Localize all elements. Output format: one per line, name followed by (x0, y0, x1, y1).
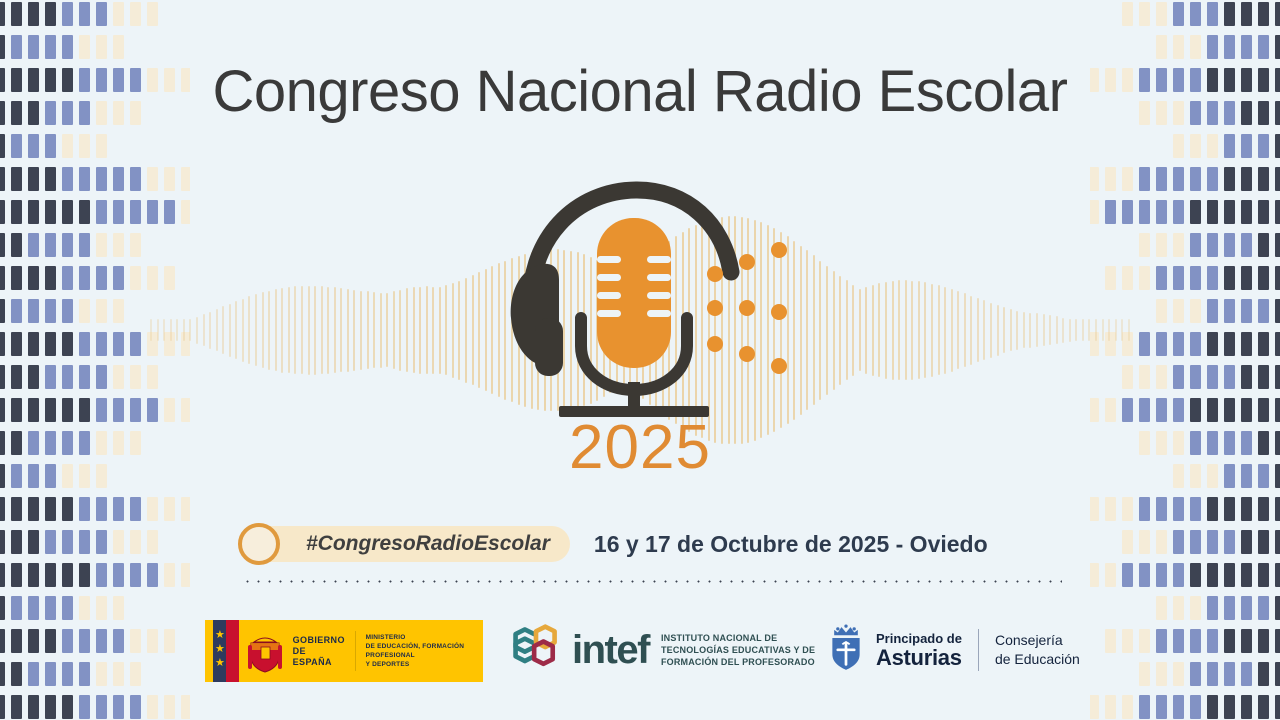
equalizer-bar (1090, 167, 1099, 191)
waveform-line (399, 290, 401, 371)
waveform-line (242, 299, 244, 362)
waveform-line (294, 286, 296, 374)
waveform-line (255, 294, 257, 366)
equalizer-bar (1258, 266, 1269, 290)
waveform-line (826, 266, 828, 395)
waveform-line (1075, 319, 1077, 341)
waveform-line (308, 286, 310, 375)
equalizer-bar (1207, 695, 1218, 719)
equalizer-bar (1156, 35, 1167, 59)
equalizer-bar (0, 233, 5, 257)
waveform-line (1095, 319, 1097, 341)
waveform-line (432, 287, 434, 374)
gobierno-line1: GOBIERNO (293, 635, 345, 646)
equalizer-bar (1258, 35, 1269, 59)
equalizer-bar (45, 299, 56, 323)
waveform-line (885, 282, 887, 379)
equalizer-bar (1207, 134, 1218, 158)
waveform-line (176, 319, 178, 341)
equalizer-bar (28, 266, 39, 290)
equalizer-row (1090, 695, 1280, 719)
equalizer-bar (1275, 497, 1280, 521)
equalizer-bar (62, 134, 73, 158)
waveform-line (203, 314, 205, 346)
equalizer-bar (147, 2, 158, 26)
equalizer-bar (96, 2, 107, 26)
equalizer-bar (1156, 332, 1167, 356)
equalizer-bar (11, 299, 22, 323)
equalizer-bar (1090, 695, 1099, 719)
equalizer-bar (1190, 530, 1201, 554)
equalizer-bar (11, 266, 22, 290)
equalizer-bar (96, 134, 107, 158)
waveform-line (1036, 313, 1038, 347)
spain-flag-icon: ★ ★ ★ (205, 620, 243, 682)
equalizer-bar (1173, 266, 1184, 290)
equalizer-bar (113, 35, 124, 59)
equalizer-bar (1241, 530, 1252, 554)
equalizer-bar (1241, 266, 1252, 290)
equalizer-bar (1224, 167, 1235, 191)
waveform-line (1088, 319, 1090, 341)
equalizer-bar (1224, 233, 1235, 257)
equalizer-bar (1241, 563, 1252, 587)
asturias-line2: Asturias (876, 646, 962, 670)
equalizer-bar (62, 200, 73, 224)
equalizer-bar (0, 35, 5, 59)
equalizer-bar (28, 35, 39, 59)
equalizer-bar (1090, 563, 1099, 587)
waveform-line (951, 289, 953, 372)
logo-strip: ★ ★ ★ GOBIERNO DE ESPAÑA (0, 615, 1280, 695)
equalizer-bar (0, 332, 5, 356)
equalizer-bar (1207, 266, 1218, 290)
waveform-line (445, 285, 447, 375)
equalizer-row (1122, 530, 1280, 554)
equalizer-bar (1207, 332, 1218, 356)
intef-wordmark: intef (572, 628, 649, 673)
equalizer-bar (1258, 365, 1269, 389)
equalizer-bar (96, 365, 107, 389)
intef-line1: INSTITUTO NACIONAL DE (661, 632, 815, 644)
waveform-line (1010, 309, 1012, 351)
equalizer-bar (1258, 695, 1269, 719)
equalizer-bar (0, 266, 5, 290)
equalizer-bar (1190, 497, 1201, 521)
equalizer-bar (1224, 530, 1235, 554)
equalizer-bar (1122, 563, 1133, 587)
equalizer-bar (1275, 167, 1280, 191)
waveform-line (347, 289, 349, 372)
equalizer-bar (1224, 35, 1235, 59)
waveform-line (1082, 319, 1084, 341)
waveform-line (458, 281, 460, 380)
equalizer-bar (1275, 2, 1280, 26)
equalizer-bar (1258, 497, 1269, 521)
waveform-line (150, 319, 152, 341)
waveform-line (1023, 312, 1025, 348)
equalizer-bar (1156, 365, 1167, 389)
equalizer-bar (1207, 530, 1218, 554)
equalizer-row (0, 2, 158, 26)
equalizer-bar (1241, 134, 1252, 158)
equalizer-row (1139, 233, 1280, 257)
waveform-line (924, 282, 926, 378)
equalizer-bar (1275, 530, 1280, 554)
equalizer-bar (11, 35, 22, 59)
waveform-line (406, 288, 408, 372)
equalizer-bar (1190, 563, 1201, 587)
equalizer-bar (1139, 695, 1150, 719)
equalizer-bar (1207, 35, 1218, 59)
waveform-line (1102, 319, 1104, 341)
equalizer-bar (130, 365, 141, 389)
logo-intef: intef INSTITUTO NACIONAL DE TECNOLOGÍAS … (508, 621, 815, 679)
gobierno-line2: DE ESPAÑA (293, 646, 345, 668)
waveform-line (819, 261, 821, 400)
equalizer-row (0, 134, 107, 158)
equalizer-row (0, 35, 124, 59)
equalizer-bar (1224, 695, 1235, 719)
waveform-line (472, 275, 474, 385)
equalizer-bar (1173, 332, 1184, 356)
equalizer-bar (11, 167, 22, 191)
equalizer-bar (1258, 563, 1269, 587)
waveform-line (275, 289, 277, 371)
equalizer-bar (113, 332, 124, 356)
equalizer-bar (45, 167, 56, 191)
equalizer-bar (0, 530, 5, 554)
equalizer-bar (79, 200, 90, 224)
waveform-line (248, 296, 250, 364)
equalizer-bar (79, 497, 90, 521)
waveform-line (892, 281, 894, 380)
equalizer-bar (11, 332, 22, 356)
equalizer-bar (0, 2, 5, 26)
equalizer-bar (0, 134, 5, 158)
equalizer-bar (96, 695, 107, 719)
equalizer-bar (62, 563, 73, 587)
equalizer-bar (1241, 365, 1252, 389)
waveform-line (216, 309, 218, 351)
equalizer-bar (62, 695, 73, 719)
equalizer-bar (1139, 233, 1150, 257)
equalizer-bar (79, 233, 90, 257)
equalizer-bar (130, 2, 141, 26)
equalizer-bar (1224, 332, 1235, 356)
equalizer-bar (62, 2, 73, 26)
equalizer-row (0, 167, 190, 191)
waveform-line (281, 288, 283, 373)
waveform-line (157, 319, 159, 341)
equalizer-bar (28, 497, 39, 521)
equalizer-bar (1190, 167, 1201, 191)
waveform-line (957, 291, 959, 369)
equalizer-bar (113, 299, 124, 323)
waveform-line (872, 285, 874, 376)
logo-principado-asturias: Principado de Asturias Consejería de Edu… (826, 621, 1080, 679)
equalizer-bar (1224, 365, 1235, 389)
waveform-line (1003, 307, 1005, 353)
equalizer-row (0, 266, 175, 290)
equalizer-bar (1207, 167, 1218, 191)
equalizer-bar (1173, 563, 1184, 587)
equalizer-bar (164, 695, 175, 719)
equalizer-bar (1156, 266, 1167, 290)
waveform-line (938, 285, 940, 375)
equalizer-bar (1207, 233, 1218, 257)
equalizer-bar (130, 200, 141, 224)
equalizer-bar (45, 134, 56, 158)
equalizer-bar (1173, 233, 1184, 257)
equalizer-bar (96, 35, 107, 59)
equalizer-bar (79, 266, 90, 290)
equalizer-bar (79, 2, 90, 26)
equalizer-bar (113, 530, 124, 554)
equalizer-bar (113, 563, 124, 587)
equalizer-bar (113, 2, 124, 26)
equalizer-bar (28, 233, 39, 257)
poster-canvas: Congreso Nacional Radio Escolar (0, 0, 1280, 720)
waveform-line (1016, 311, 1018, 350)
waveform-line (865, 287, 867, 374)
equalizer-row (1090, 167, 1280, 191)
equalizer-bar (1241, 167, 1252, 191)
waveform-line (806, 250, 808, 410)
equalizer-bar (96, 266, 107, 290)
equalizer-bar (1275, 332, 1280, 356)
intef-mark-icon (508, 622, 564, 679)
equalizer-bar (0, 695, 5, 719)
asturias-divider (978, 629, 979, 671)
waveform-line (905, 280, 907, 380)
equalizer-bar (1224, 200, 1235, 224)
equalizer-bar (1224, 563, 1235, 587)
equalizer-bar (62, 233, 73, 257)
equalizer-bar (113, 695, 124, 719)
equalizer-bar (1173, 497, 1184, 521)
equalizer-bar (1156, 233, 1167, 257)
equalizer-bar (1241, 233, 1252, 257)
equalizer-bar (45, 563, 56, 587)
dotted-divider (242, 580, 1062, 583)
equalizer-bar (96, 167, 107, 191)
equalizer-bar (147, 695, 158, 719)
equalizer-bar (1190, 299, 1201, 323)
equalizer-bar (1241, 299, 1252, 323)
microphone-icon (497, 168, 797, 428)
equalizer-bar (130, 233, 141, 257)
waveform-line (163, 319, 165, 341)
ministerio-line2: DE EDUCACIÓN, FORMACIÓN PROFESIONAL (366, 642, 483, 660)
equalizer-bar (62, 266, 73, 290)
equalizer-bar (28, 695, 39, 719)
equalizer-bar (1224, 2, 1235, 26)
equalizer-bar (96, 530, 107, 554)
consejeria-line1: Consejería (995, 631, 1080, 650)
equalizer-bar (62, 167, 73, 191)
equalizer-bar (1275, 266, 1280, 290)
equalizer-bar (0, 563, 5, 587)
equalizer-bar (11, 497, 22, 521)
waveform-line (367, 291, 369, 369)
equalizer-bar (45, 2, 56, 26)
equalizer-bar (1190, 200, 1201, 224)
equalizer-row (1156, 299, 1280, 323)
equalizer-bar (1207, 2, 1218, 26)
equalizer-bar (1139, 266, 1150, 290)
equalizer-bar (1258, 233, 1269, 257)
equalizer-bar (130, 695, 141, 719)
waveform-line (1121, 319, 1123, 341)
equalizer-row (1122, 2, 1280, 26)
equalizer-bar (79, 695, 90, 719)
equalizer-bar (130, 497, 141, 521)
equalizer-bar (11, 695, 22, 719)
equalizer-bar (1173, 2, 1184, 26)
waveform-line (393, 291, 395, 369)
equalizer-bar (1207, 200, 1218, 224)
equalizer-bar (96, 563, 107, 587)
consejeria-line2: de Educación (995, 650, 1080, 669)
equalizer-bar (113, 167, 124, 191)
equalizer-bar (164, 497, 175, 521)
equalizer-bar (62, 299, 73, 323)
equalizer-bar (45, 233, 56, 257)
equalizer-row (1105, 266, 1280, 290)
equalizer-bar (1173, 167, 1184, 191)
equalizer-bar (45, 530, 56, 554)
equalizer-bar (1275, 200, 1280, 224)
equalizer-bar (28, 299, 39, 323)
equalizer-bar (45, 695, 56, 719)
waveform-line (235, 301, 237, 359)
equalizer-bar (130, 563, 141, 587)
equalizer-bar (0, 167, 5, 191)
intef-line2: TECNOLOGÍAS EDUCATIVAS Y DE (661, 644, 815, 656)
hashtag-label: #CongresoRadioEscolar (306, 532, 550, 556)
hashtag-pill: #CongresoRadioEscolar (250, 526, 570, 562)
gobierno-divider (355, 631, 356, 671)
equalizer-bar (1173, 134, 1184, 158)
equalizer-bar (1190, 695, 1201, 719)
equalizer-bar (1207, 563, 1218, 587)
equalizer-bar (11, 563, 22, 587)
waveform-line (268, 291, 270, 370)
equalizer-bar (11, 365, 22, 389)
waveform-line (314, 286, 316, 375)
equalizer-bar (1190, 365, 1201, 389)
equalizer-bar (1275, 35, 1280, 59)
equalizer-bar (45, 35, 56, 59)
equalizer-bar (147, 563, 158, 587)
equalizer-bar (113, 266, 124, 290)
waveform-line (878, 283, 880, 377)
equalizer-bar (1207, 497, 1218, 521)
waveform-line (373, 292, 375, 368)
waveform-line (813, 255, 815, 405)
hashtag-date-row: #CongresoRadioEscolar 16 y 17 de Octubre… (250, 522, 988, 566)
equalizer-bar (96, 233, 107, 257)
equalizer-bar (1275, 365, 1280, 389)
waveform-line (229, 304, 231, 357)
equalizer-row (1156, 35, 1280, 59)
equalizer-bar (1139, 563, 1150, 587)
equalizer-bar (96, 332, 107, 356)
equalizer-bar (1275, 563, 1280, 587)
waveform-line (491, 266, 493, 394)
gobierno-wordmark: GOBIERNO DE ESPAÑA (293, 635, 345, 668)
equalizer-bar (1190, 266, 1201, 290)
equalizer-bar (1122, 167, 1133, 191)
equalizer-bar (130, 332, 141, 356)
waveform-line (852, 285, 854, 376)
waveform-line (334, 287, 336, 373)
equalizer-bar (1105, 695, 1116, 719)
equalizer-bar (1241, 695, 1252, 719)
ministerio-line1: MINISTERIO (366, 633, 483, 642)
equalizer-bar (28, 167, 39, 191)
equalizer-bar (0, 200, 5, 224)
equalizer-bar (1173, 695, 1184, 719)
equalizer-bar (45, 332, 56, 356)
equalizer-bar (1156, 167, 1167, 191)
equalizer-bar (28, 332, 39, 356)
ring-circle-icon (238, 523, 280, 565)
equalizer-bar (1173, 299, 1184, 323)
waveform-line (859, 289, 861, 371)
equalizer-bar (28, 365, 39, 389)
waveform-line (1029, 313, 1031, 348)
waveform-line (340, 288, 342, 372)
equalizer-bar (1258, 2, 1269, 26)
equalizer-bar (96, 200, 107, 224)
waveform-line (288, 287, 290, 373)
waveform-line (380, 293, 382, 368)
waveform-line (1069, 319, 1071, 342)
equalizer-bar (1207, 365, 1218, 389)
equalizer-bar (1190, 2, 1201, 26)
equalizer-row (1090, 563, 1280, 587)
waveform-line (800, 246, 802, 415)
waveform-line (1049, 315, 1051, 345)
waveform-line (1043, 314, 1045, 346)
waveform-line (970, 296, 972, 365)
equalizer-bar (1241, 35, 1252, 59)
equalizer-bar (1139, 530, 1150, 554)
equalizer-bar (1275, 695, 1280, 719)
equalizer-bar (1258, 332, 1269, 356)
waveform-line (964, 293, 966, 367)
equalizer-bar (1258, 530, 1269, 554)
waveform-line (898, 280, 900, 380)
waveform-line (452, 283, 454, 378)
equalizer-bar (79, 134, 90, 158)
waveform-line (833, 271, 835, 390)
ministerio-line3: Y DEPORTES (366, 660, 483, 669)
equalizer-bar (28, 563, 39, 587)
equalizer-bar (1190, 35, 1201, 59)
equalizer-bar (79, 35, 90, 59)
equalizer-bar (1224, 497, 1235, 521)
equalizer-bar (96, 497, 107, 521)
equalizer-bar (1105, 563, 1116, 587)
waveform-line (413, 287, 415, 373)
equalizer-row (0, 299, 124, 323)
waveform-line (360, 291, 362, 370)
waveform-line (327, 287, 329, 374)
equalizer-bar (130, 530, 141, 554)
